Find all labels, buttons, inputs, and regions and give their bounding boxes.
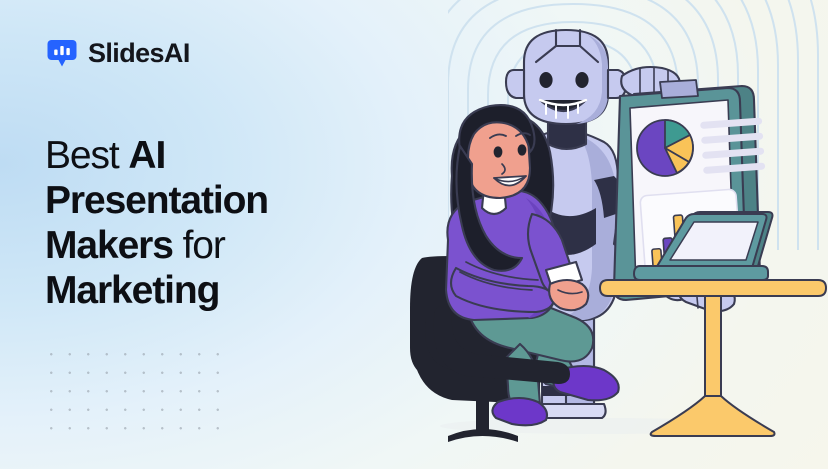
logo-wordmark: SlidesAI xyxy=(88,40,190,67)
logo[interactable]: SlidesAI xyxy=(45,36,190,70)
headline-part-light-1: Best xyxy=(45,134,128,177)
page-title: Best AI Presentation Makers for Marketin… xyxy=(45,133,375,313)
headline-part-bold-2: Marketing xyxy=(45,269,219,312)
banner-root: SlidesAI Best AI Presentation Makers for… xyxy=(0,0,828,469)
pie-chart xyxy=(637,120,693,176)
hero-illustration xyxy=(390,18,828,469)
headline-part-light-2: for xyxy=(173,224,225,267)
presentation-board-chart-icon xyxy=(45,36,79,70)
dot-grid-decoration xyxy=(40,343,220,433)
